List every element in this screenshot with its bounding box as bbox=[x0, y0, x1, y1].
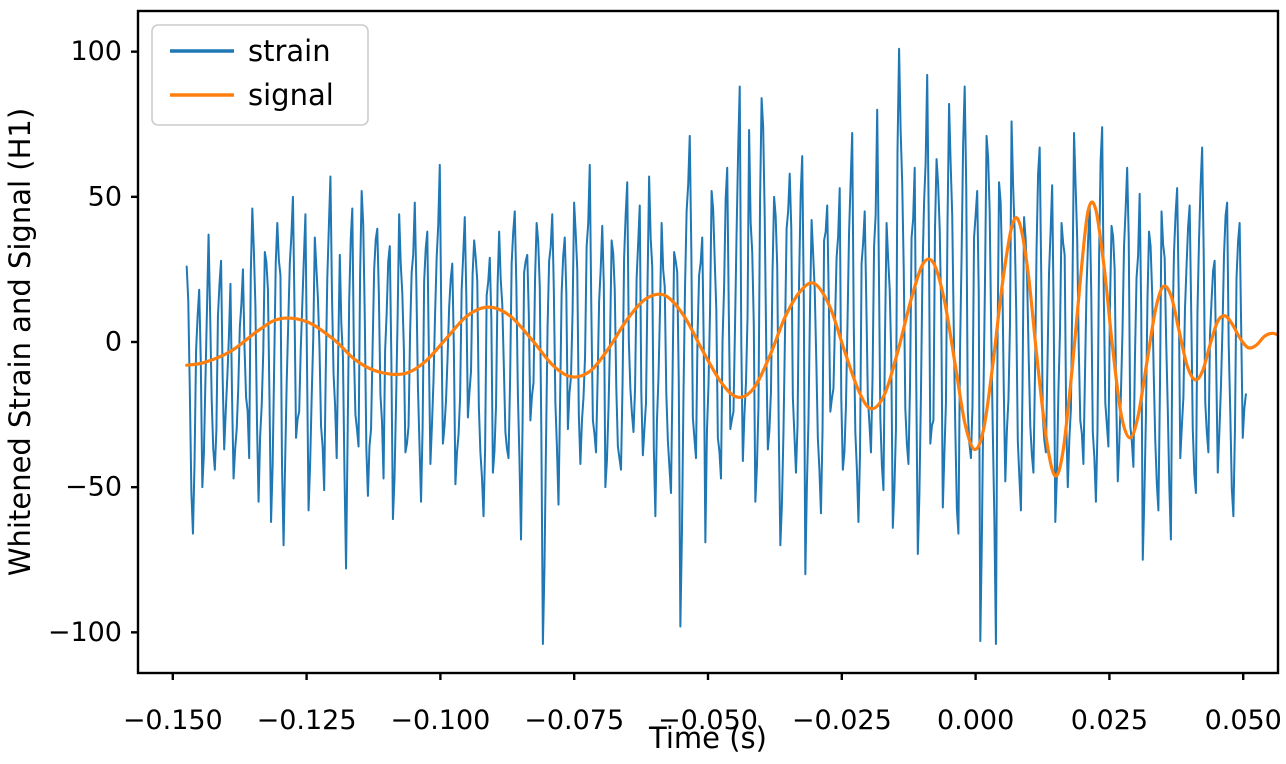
y-tick-label: −50 bbox=[65, 472, 122, 503]
legend[interactable]: strainsignal bbox=[152, 25, 368, 125]
x-tick-label: −0.025 bbox=[792, 705, 892, 736]
y-axis-title: Whitened Strain and Signal (H1) bbox=[3, 108, 37, 576]
x-tick-label: −0.100 bbox=[390, 705, 490, 736]
y-tick-label: 0 bbox=[105, 327, 122, 358]
y-tick-label: 100 bbox=[70, 36, 122, 67]
gravitational-wave-strain-figure: −0.150−0.125−0.100−0.075−0.050−0.0250.00… bbox=[0, 0, 1286, 764]
x-tick-label: −0.075 bbox=[524, 705, 624, 736]
legend-label-strain: strain bbox=[248, 34, 331, 68]
legend-label-signal: signal bbox=[248, 78, 334, 112]
x-tick-label: 0.000 bbox=[937, 705, 1014, 736]
y-tick-label: −100 bbox=[48, 617, 122, 648]
plot-canvas: −0.150−0.125−0.100−0.075−0.050−0.0250.00… bbox=[0, 0, 1286, 764]
x-tick-label: −0.125 bbox=[257, 705, 357, 736]
series-line-strain bbox=[187, 49, 1246, 644]
x-tick-label: 0.025 bbox=[1071, 705, 1148, 736]
x-axis-title: Time (s) bbox=[648, 721, 767, 755]
x-tick-label: 0.050 bbox=[1205, 705, 1282, 736]
x-tick-label: −0.150 bbox=[123, 705, 223, 736]
y-tick-label: 50 bbox=[88, 181, 122, 212]
